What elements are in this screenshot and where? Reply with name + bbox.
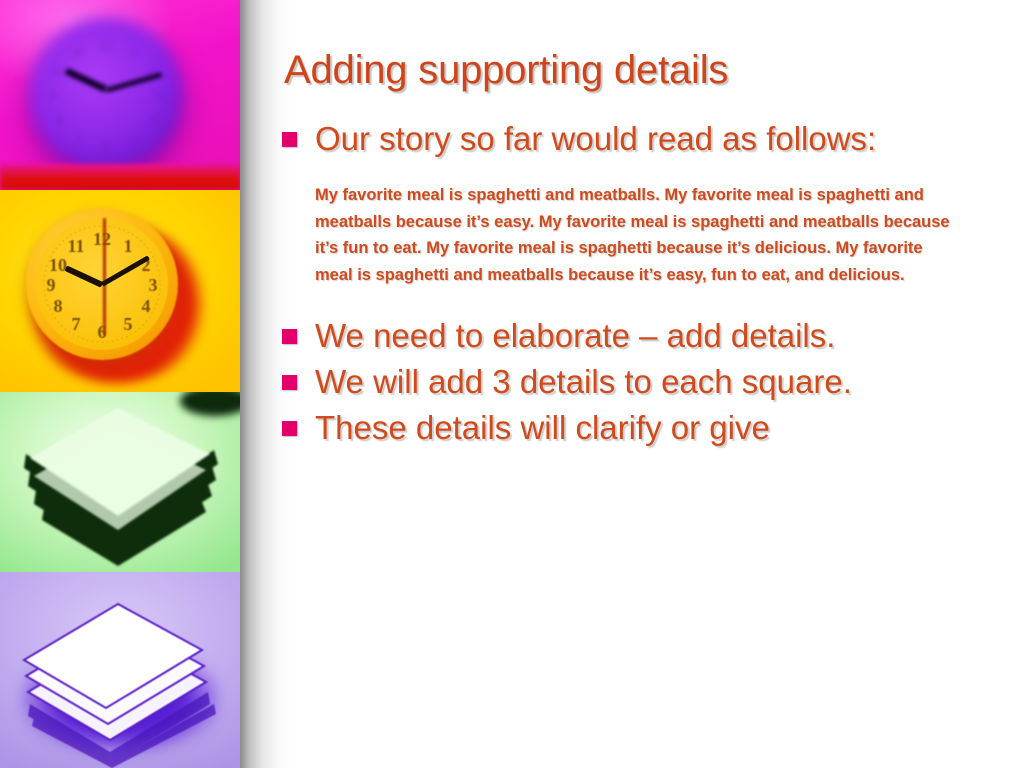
- svg-text:8: 8: [54, 296, 63, 316]
- svg-text:12: 12: [93, 229, 111, 249]
- svg-text:7: 7: [72, 314, 81, 334]
- bullet-item: We need to elaborate – add details.: [282, 315, 982, 357]
- svg-text:5: 5: [131, 131, 138, 146]
- svg-text:4: 4: [142, 296, 151, 316]
- stacked-papers-graphic: [0, 572, 240, 768]
- bullet-item: These details will clarify or give: [282, 407, 982, 449]
- svg-text:3: 3: [156, 88, 163, 103]
- bullet-item: Our story so far would read as follows:: [282, 118, 982, 160]
- svg-text:11: 11: [72, 45, 84, 60]
- bullet-item: We will add 3 details to each square.: [282, 361, 982, 403]
- purple-stacked-papers-photo: [0, 572, 240, 768]
- magenta-purple-clock-photo: 1212 345 678 91011: [0, 0, 240, 190]
- slide-title: Adding supporting details: [284, 48, 728, 93]
- svg-text:1: 1: [131, 45, 138, 60]
- svg-text:3: 3: [149, 275, 158, 295]
- svg-text:7: 7: [75, 131, 82, 146]
- bullet-square-icon: [282, 132, 297, 147]
- svg-text:11: 11: [67, 236, 84, 256]
- svg-text:6: 6: [103, 139, 110, 154]
- presentation-slide: 1212 345 678 91011 1212 345 678: [0, 0, 1024, 768]
- svg-text:1: 1: [124, 236, 133, 256]
- slide-content: Adding supporting details Our story so f…: [282, 0, 1000, 768]
- bullet-label: We will add 3 details to each square.: [315, 361, 852, 403]
- bullet-list: Our story so far would read as follows: …: [282, 118, 982, 453]
- green-stacked-papers-photo: [0, 392, 240, 572]
- bullet-square-icon: [282, 421, 297, 436]
- svg-text:9: 9: [50, 88, 57, 103]
- svg-text:12: 12: [100, 38, 113, 53]
- bullet-square-icon: [282, 375, 297, 390]
- svg-text:10: 10: [49, 255, 67, 275]
- photo-red-band: [0, 164, 240, 190]
- bullet-label: We need to elaborate – add details.: [315, 315, 835, 357]
- bullet-label: Our story so far would read as follows:: [315, 118, 876, 160]
- svg-text:4: 4: [149, 112, 156, 127]
- clock-second-hand: [103, 218, 106, 334]
- body-paragraph: My favorite meal is spaghetti and meatba…: [315, 182, 963, 289]
- svg-text:5: 5: [124, 314, 133, 334]
- image-strip: 1212 345 678 91011 1212 345 678: [0, 0, 240, 768]
- clock-numerals: 1212 345 678 91011: [30, 18, 182, 170]
- bullet-square-icon: [282, 329, 297, 344]
- bullet-label: These details will clarify or give: [315, 407, 770, 449]
- svg-text:8: 8: [57, 112, 64, 127]
- svg-text:9: 9: [47, 275, 56, 295]
- yellow-orange-clock-photo: 1212 345 678 91011: [0, 190, 240, 392]
- stacked-papers-graphic: [0, 392, 240, 572]
